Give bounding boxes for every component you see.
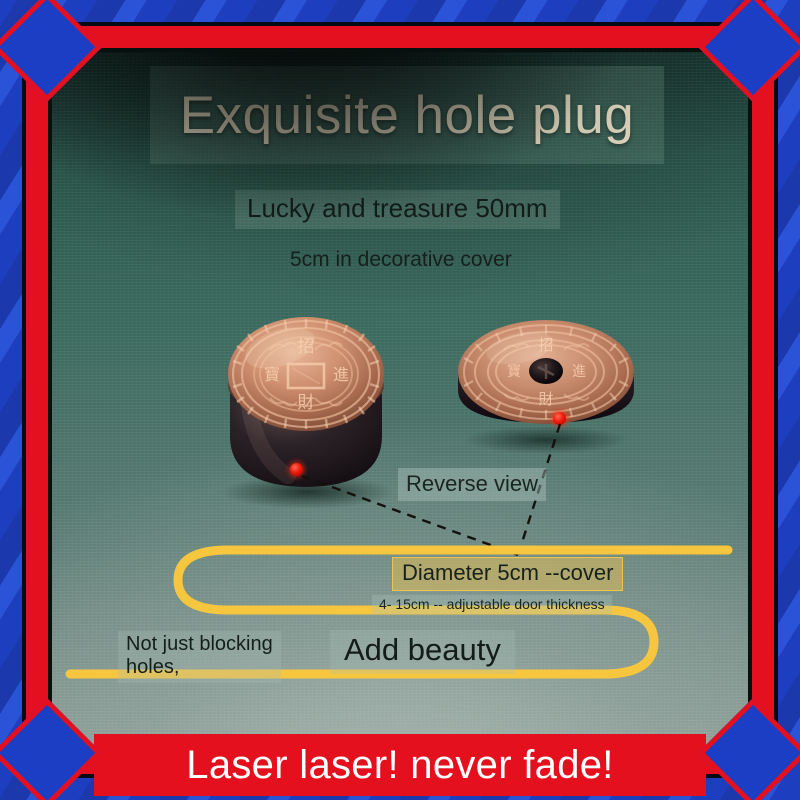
marker-dot-front [290, 463, 303, 476]
subtitle-primary-box: Lucky and treasure 50mm [235, 190, 560, 229]
poster-title-box: Exquisite hole plug [150, 66, 664, 164]
hole-plug-reverse-view: 招 進 寶 財 [446, 294, 646, 456]
product-poster: 招 進 寶 財 [0, 0, 800, 800]
cap-char-right: 進 [333, 365, 349, 384]
marker-dot-reverse [553, 412, 566, 425]
diameter-label-box: Diameter 5cm --cover [392, 557, 623, 591]
svg-text:寶: 寶 [507, 364, 521, 380]
add-beauty-label: Add beauty [344, 632, 501, 668]
bottom-banner-text: Laser laser! never fade! [186, 743, 613, 788]
add-beauty-box: Add beauty [330, 630, 515, 674]
bottom-banner: Laser laser! never fade! [94, 734, 706, 796]
cap-char-bottom: 財 [298, 393, 315, 413]
not-just-blocking-box: Not just blocking holes, [118, 631, 281, 683]
not-just-blocking-label: Not just blocking holes, [126, 633, 273, 679]
thickness-label-box: 4- 15cm -- adjustable door thickness [372, 595, 612, 614]
subtitle-primary: Lucky and treasure 50mm [247, 193, 548, 224]
hole-plug-reverse-svg: 招 進 寶 財 [446, 294, 646, 456]
thickness-label: 4- 15cm -- adjustable door thickness [379, 596, 605, 612]
svg-text:進: 進 [572, 364, 586, 380]
diameter-label: Diameter 5cm --cover [402, 560, 613, 586]
hole-plug-front-svg: 招 進 寶 財 [196, 286, 416, 508]
reverse-view-label-box: Reverse view [398, 468, 546, 501]
poster-title: Exquisite hole plug [180, 85, 634, 146]
subtitle-secondary: 5cm in decorative cover [290, 248, 512, 272]
product-photo: 招 進 寶 財 [52, 52, 748, 748]
reverse-view-label: Reverse view [406, 471, 538, 497]
hole-plug-front-view: 招 進 寶 財 [196, 286, 416, 508]
svg-text:財: 財 [538, 390, 553, 408]
